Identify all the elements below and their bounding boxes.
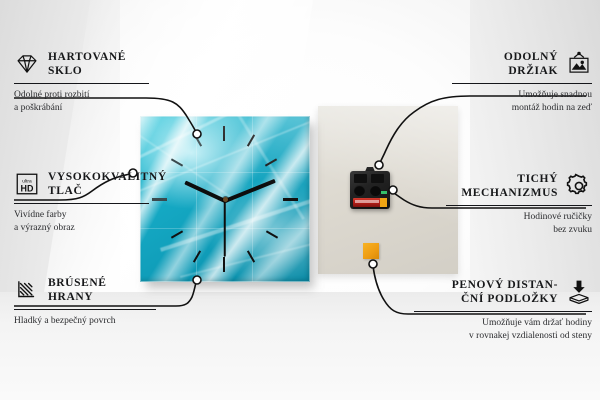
feature-high-quality-print: ultra HD VYSOKOKVALITNÝ TLAČ Vivídne far… [14, 170, 149, 234]
feature-header: HARTOVANÉ SKLO [14, 50, 149, 78]
feature-header: ODOLNÝ DRŽIAK [452, 50, 592, 78]
feature-divider [452, 83, 592, 84]
connector-node-4 [375, 161, 383, 169]
product-infographic: HARTOVANÉ SKLO Odolné proti rozbití a po… [0, 0, 600, 400]
feature-durable-hanger: ODOLNÝ DRŽIAK Umožňuje snadnou montáž ho… [452, 50, 592, 114]
feature-description: Hodinové ručičky bez zvuku [446, 211, 592, 236]
connector-node-6 [369, 260, 377, 268]
feature-divider [14, 83, 149, 84]
feature-description: Vivídne farby a výrazný obraz [14, 209, 149, 234]
ultra-hd-badge-icon: ultra HD [14, 171, 40, 197]
feature-header: ultra HD VYSOKOKVALITNÝ TLAČ [14, 170, 149, 198]
feature-title: ODOLNÝ DRŽIAK [504, 50, 558, 78]
connector-node-5 [389, 186, 397, 194]
ground-edges-icon [14, 277, 40, 303]
feature-description: Hladký a bezpečný povrch [14, 315, 156, 328]
svg-text:HD: HD [21, 183, 34, 193]
feature-header: BRÚSENÉ HRANY [14, 276, 156, 304]
feature-ground-edges: BRÚSENÉ HRANY Hladký a bezpečný povrch [14, 276, 156, 328]
gear-icon [566, 173, 592, 199]
feature-description: Umožňuje snadnou montáž hodin na zeď [452, 89, 592, 114]
feature-divider [414, 311, 592, 312]
feature-title: TICHÝ MECHANIZMUS [461, 172, 558, 200]
feature-description: Odolné proti rozbití a poškrábání [14, 89, 149, 114]
feature-title: VYSOKOKVALITNÝ TLAČ [48, 170, 167, 198]
feature-foam-spacers: PENOVÝ DISTAN- ČNÍ PODLOŽKY Umožňuje vám… [414, 278, 592, 342]
feature-tempered-glass: HARTOVANÉ SKLO Odolné proti rozbití a po… [14, 50, 149, 114]
feature-title: BRÚSENÉ HRANY [48, 276, 107, 304]
feature-title: PENOVÝ DISTAN- ČNÍ PODLOŽKY [452, 278, 558, 306]
foam-spacer-icon [566, 279, 592, 305]
feature-description: Umožňuje vám držať hodiny v rovnakej vzd… [414, 317, 592, 342]
picture-hanger-icon [566, 51, 592, 77]
feature-title: HARTOVANÉ SKLO [48, 50, 126, 78]
feature-divider [446, 205, 592, 206]
connector-node-1 [193, 130, 201, 138]
feature-header: TICHÝ MECHANIZMUS [446, 172, 592, 200]
feature-divider [14, 203, 149, 204]
feature-silent-mechanism: TICHÝ MECHANIZMUS Hodinové ručičky bez z… [446, 172, 592, 236]
diamond-icon [14, 51, 40, 77]
feature-header: PENOVÝ DISTAN- ČNÍ PODLOŽKY [414, 278, 592, 306]
connector-node-3 [193, 276, 201, 284]
feature-divider [14, 309, 156, 310]
